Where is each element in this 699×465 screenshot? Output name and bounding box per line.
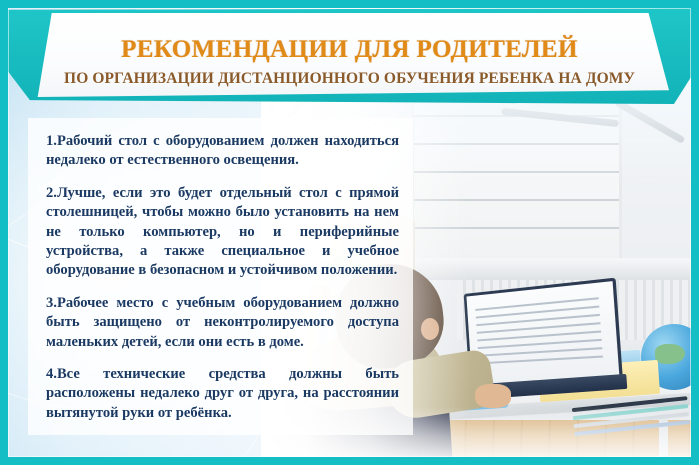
header-ribbon: РЕКОМЕНДАЦИИ ДЛЯ РОДИТЕЛЕЙ ПО ОРГАНИЗАЦИ… (8, 8, 691, 104)
page-title: РЕКОМЕНДАЦИИ ДЛЯ РОДИТЕЛЕЙ (8, 36, 691, 64)
poster-root: 1 (0, 0, 699, 465)
page-subtitle: ПО ОРГАНИЗАЦИИ ДИСТАНЦИОННОГО ОБУЧЕНИЯ Р… (8, 70, 691, 88)
recommendation-item: 4.Все технические средства должны быть р… (46, 365, 399, 423)
recommendation-item: 3.Рабочее место с учебным оборудованием … (46, 294, 399, 352)
recommendation-item: 1.Рабочий стол с оборудованием должен на… (46, 132, 399, 171)
recommendations-card: 1.Рабочий стол с оборудованием должен на… (28, 118, 413, 435)
recommendation-item: 2.Лучше, если это будет отдельный стол с… (46, 184, 399, 281)
photo-child-hand (475, 384, 511, 408)
